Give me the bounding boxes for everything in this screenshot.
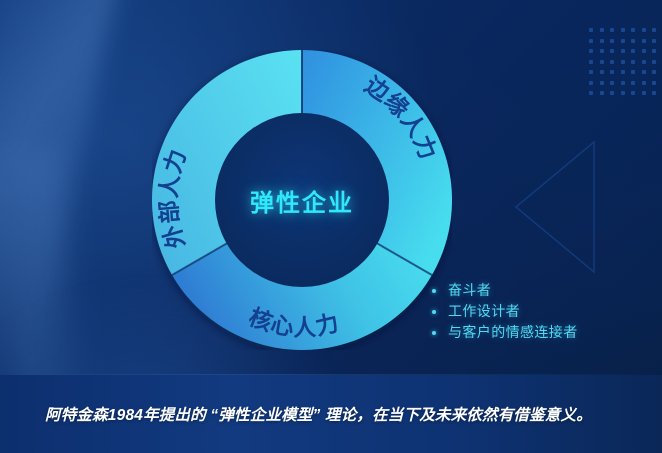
background-light-streak (0, 0, 127, 397)
matrix-dot (652, 39, 656, 43)
slide-canvas: 边缘人力 核心人力 外部人力 弹性企业 奋斗者工作设计者与客户的情感连接者 阿特… (0, 0, 662, 453)
matrix-dot (589, 49, 593, 53)
matrix-dot (621, 91, 625, 95)
donut-hole (215, 113, 389, 287)
bullet-dot-icon (432, 289, 436, 293)
matrix-dot (621, 60, 625, 64)
matrix-dot (642, 91, 646, 95)
matrix-dot (642, 60, 646, 64)
matrix-dot (652, 28, 656, 32)
matrix-dot (621, 39, 625, 43)
matrix-dot (610, 70, 614, 74)
matrix-dot (610, 91, 614, 95)
matrix-dot (600, 91, 604, 95)
matrix-dot (589, 28, 593, 32)
donut-chart: 边缘人力 核心人力 外部人力 弹性企业 (152, 50, 452, 350)
list-item-label: 工作设计者 (448, 301, 520, 322)
matrix-dot (642, 81, 646, 85)
bullet-list: 奋斗者工作设计者与客户的情感连接者 (432, 280, 647, 343)
matrix-dot (589, 70, 593, 74)
matrix-dot (631, 81, 635, 85)
matrix-dot (600, 81, 604, 85)
matrix-dot (610, 60, 614, 64)
bullet-dot-icon (432, 310, 436, 314)
matrix-dot (652, 81, 656, 85)
matrix-dot (610, 28, 614, 32)
matrix-dot (610, 81, 614, 85)
matrix-dot (642, 39, 646, 43)
matrix-dot (589, 91, 593, 95)
matrix-dot (621, 81, 625, 85)
matrix-dot (621, 70, 625, 74)
matrix-dot (652, 49, 656, 53)
matrix-dot (600, 28, 604, 32)
matrix-dot (652, 70, 656, 74)
matrix-dot (631, 91, 635, 95)
matrix-dot (600, 49, 604, 53)
caption-text: 阿特金森1984年提出的 “弹性企业模型” 理论，在当下及未来依然有借鉴意义。 (0, 403, 604, 425)
caption-bar: 阿特金森1984年提出的 “弹性企业模型” 理论，在当下及未来依然有借鉴意义。 (0, 375, 662, 453)
matrix-dot (631, 39, 635, 43)
list-item: 奋斗者 (432, 280, 647, 301)
list-item-label: 奋斗者 (448, 280, 491, 301)
matrix-dot (631, 49, 635, 53)
matrix-dot (600, 70, 604, 74)
matrix-dot (589, 39, 593, 43)
matrix-dot (642, 70, 646, 74)
bullet-dot-icon (432, 331, 436, 335)
matrix-dot (589, 81, 593, 85)
matrix-dot (642, 28, 646, 32)
list-item: 与客户的情感连接者 (432, 322, 647, 343)
matrix-dot (642, 49, 646, 53)
matrix-dot (631, 60, 635, 64)
matrix-dot (610, 39, 614, 43)
matrix-dot (621, 28, 625, 32)
matrix-dot (652, 60, 656, 64)
matrix-dot (631, 28, 635, 32)
matrix-dot (600, 39, 604, 43)
matrix-dot (600, 60, 604, 64)
dot-matrix-decoration (589, 28, 662, 102)
matrix-dot (589, 60, 593, 64)
matrix-dot (621, 49, 625, 53)
triangle-outline-decoration (500, 100, 662, 280)
matrix-dot (631, 70, 635, 74)
list-item-label: 与客户的情感连接者 (448, 322, 578, 343)
matrix-dot (652, 91, 656, 95)
matrix-dot (610, 49, 614, 53)
list-item: 工作设计者 (432, 301, 647, 322)
